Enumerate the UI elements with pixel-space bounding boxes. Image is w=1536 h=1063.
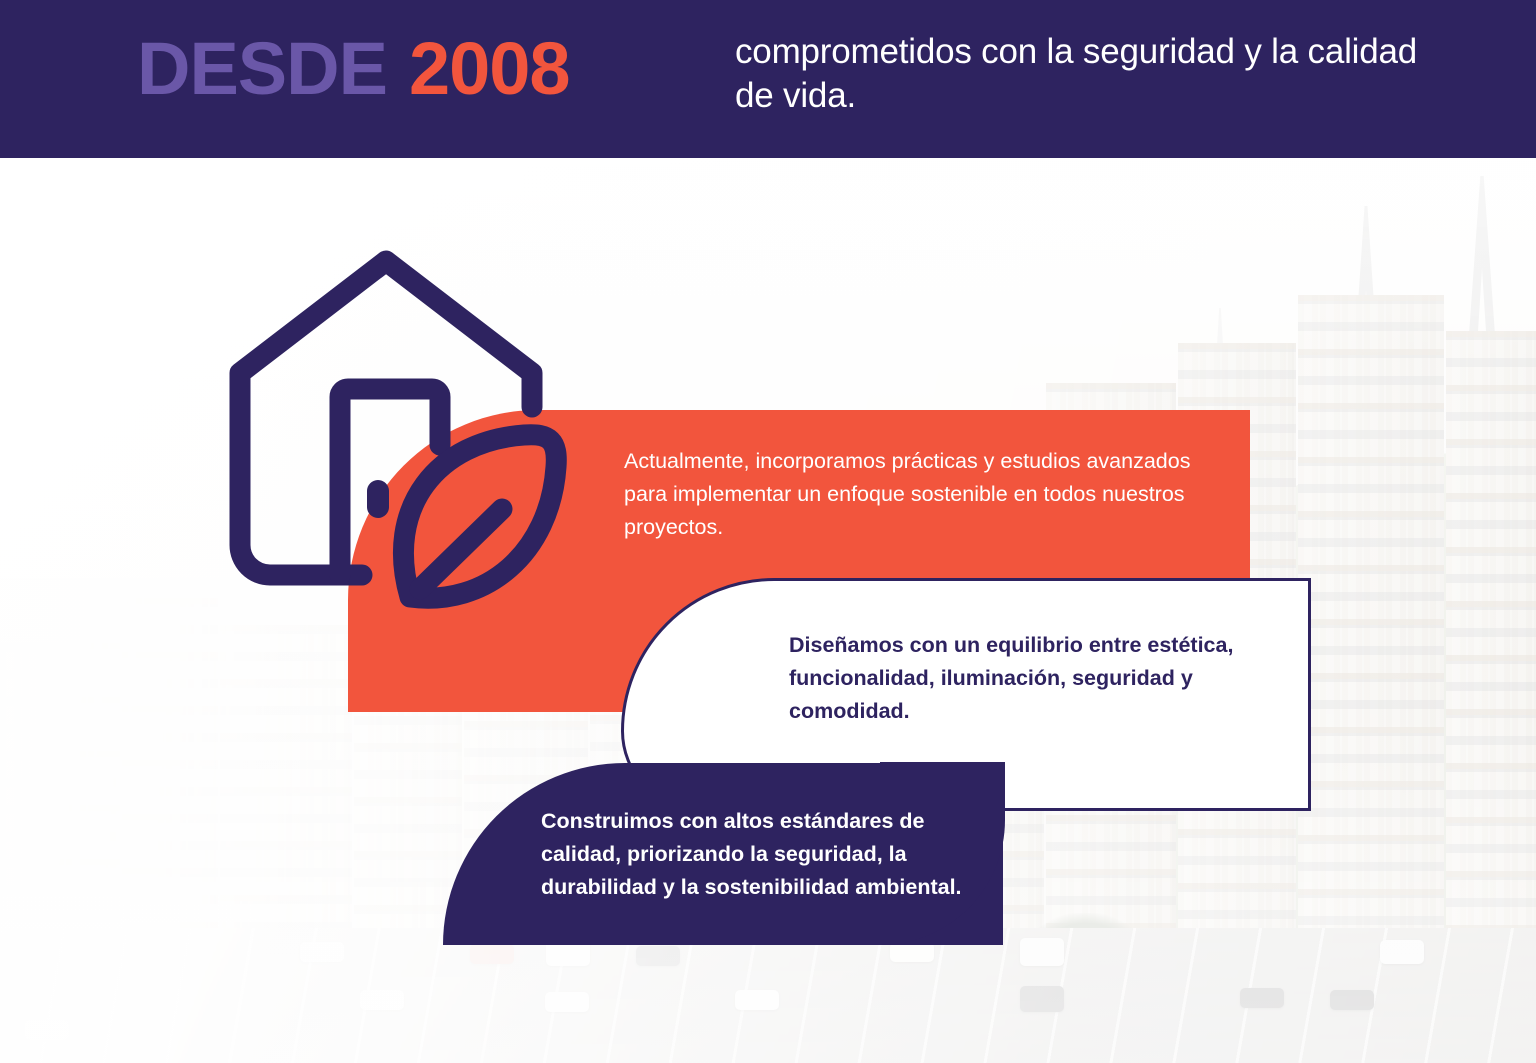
card-navy: Construimos con altos estándares de cali… — [443, 763, 1003, 945]
header-headline: DESDE 2008 — [137, 31, 570, 107]
card-orange-text: Actualmente, incorporamos prácticas y es… — [624, 445, 1224, 544]
headline-year: 2008 — [409, 31, 570, 107]
card-navy-text: Construimos con altos estándares de cali… — [541, 805, 971, 904]
poster-canvas: DESDE 2008 comprometidos con la segurida… — [0, 0, 1536, 1063]
card-white-text: Diseñamos con un equilibrio entre estéti… — [789, 629, 1289, 728]
header-banner: DESDE 2008 comprometidos con la segurida… — [0, 0, 1536, 158]
header-tagline: comprometidos con la seguridad y la cali… — [735, 30, 1425, 118]
headline-desde: DESDE — [137, 31, 387, 107]
